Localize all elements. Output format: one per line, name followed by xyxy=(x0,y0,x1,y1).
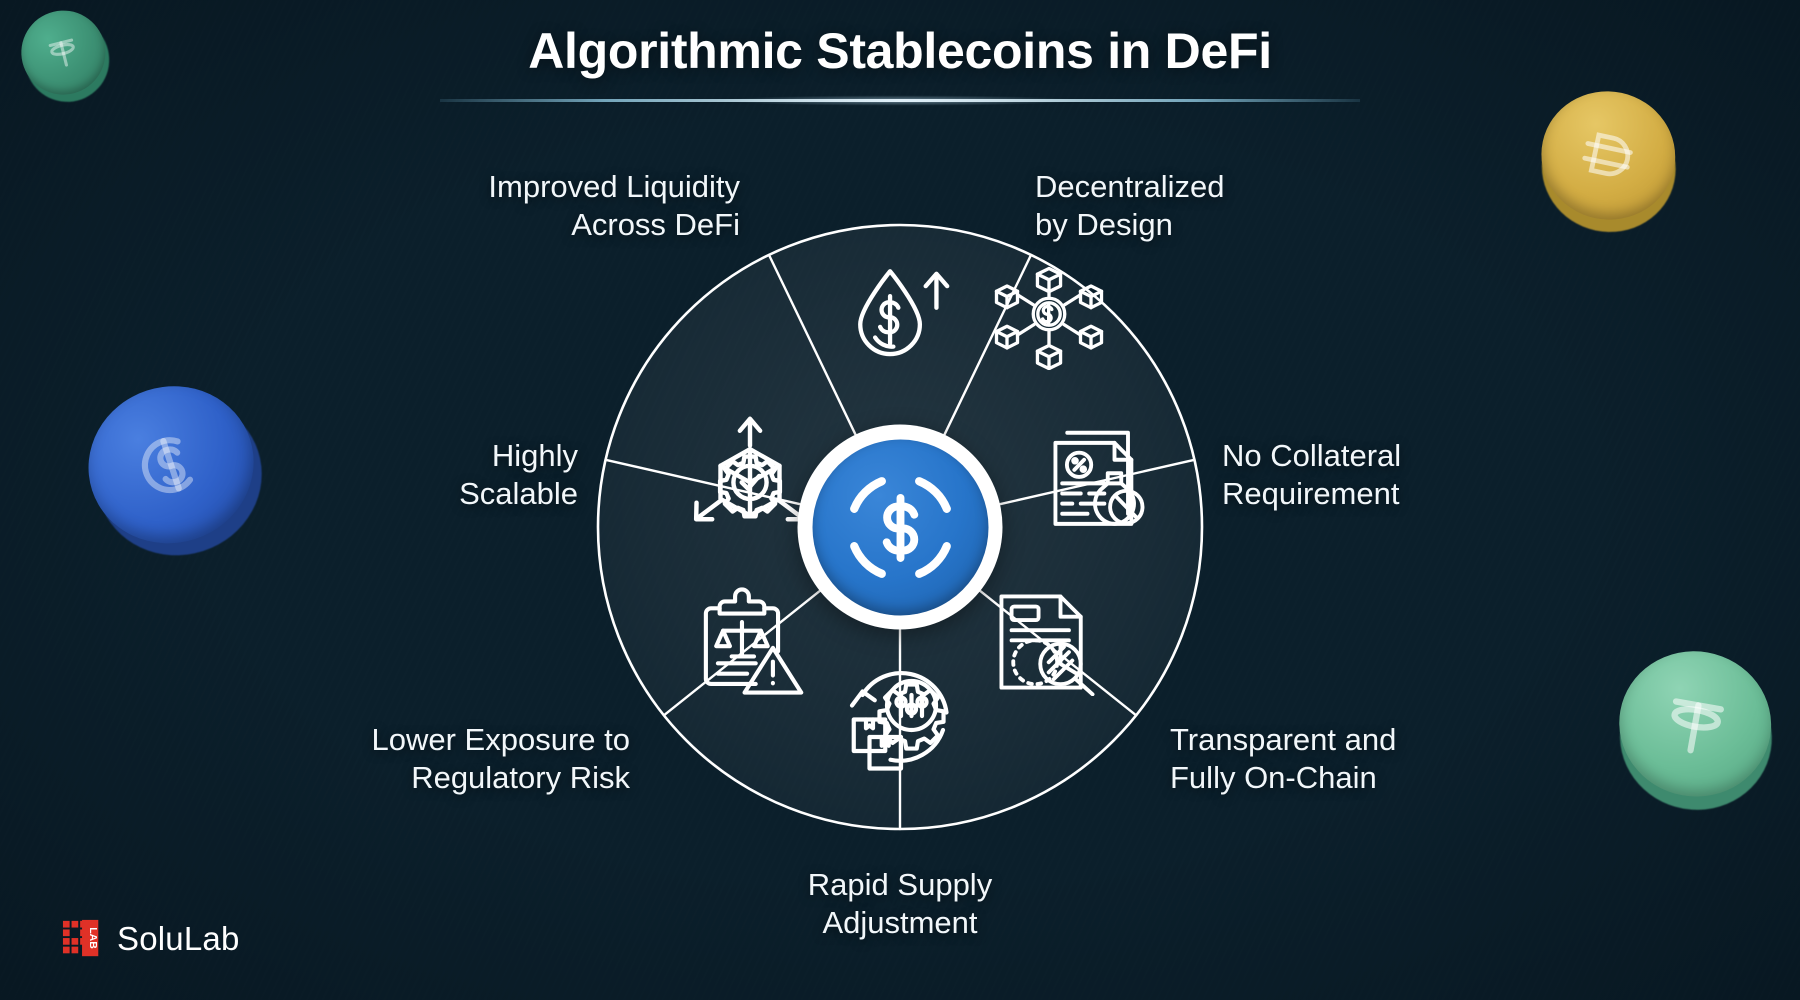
usdc-symbol-icon xyxy=(837,464,963,590)
label-improved-liquidity: Improved Liquidity Across DeFi xyxy=(340,168,740,244)
solulab-mark-icon: LAB xyxy=(62,918,104,960)
label-highly-scalable: Highly Scalable xyxy=(258,437,578,513)
tether-symbol-icon xyxy=(1647,675,1744,772)
solulab-wordmark: SoluLab xyxy=(117,920,240,958)
scalable-cube-gear-arrows-icon xyxy=(691,416,809,534)
title-divider xyxy=(440,99,1360,102)
water-drop-dollar-icon xyxy=(847,258,953,364)
dai-symbol-icon xyxy=(1566,113,1651,198)
usdc-symbol-icon xyxy=(113,407,229,523)
page-title: Algorithmic Stablecoins in DeFi xyxy=(0,22,1800,80)
clipboard-scales-warning-icon xyxy=(699,586,809,696)
solulab-mark-label: LAB xyxy=(87,927,99,949)
label-transparent-on-chain: Transparent and Fully On-Chain xyxy=(1170,721,1570,797)
title-block: Algorithmic Stablecoins in DeFi xyxy=(0,22,1800,102)
gear-sliders-boxes-icon xyxy=(845,660,957,772)
document-percent-moneybag-prohibited-icon xyxy=(1047,426,1155,534)
label-rapid-supply: Rapid Supply Adjustment xyxy=(700,866,1100,942)
usdc-coin-icon xyxy=(812,439,988,615)
benefits-wheel xyxy=(595,222,1205,832)
usdc-center-logo xyxy=(798,425,1003,630)
solulab-logo: LAB SoluLab xyxy=(62,918,240,960)
document-chart-magnifier-icon xyxy=(993,588,1101,696)
label-no-collateral: No Collateral Requirement xyxy=(1222,437,1602,513)
blockchain-network-icon xyxy=(993,258,1105,370)
label-regulatory-risk: Lower Exposure to Regulatory Risk xyxy=(210,721,630,797)
label-decentralized: Decentralized by Design xyxy=(1035,168,1415,244)
